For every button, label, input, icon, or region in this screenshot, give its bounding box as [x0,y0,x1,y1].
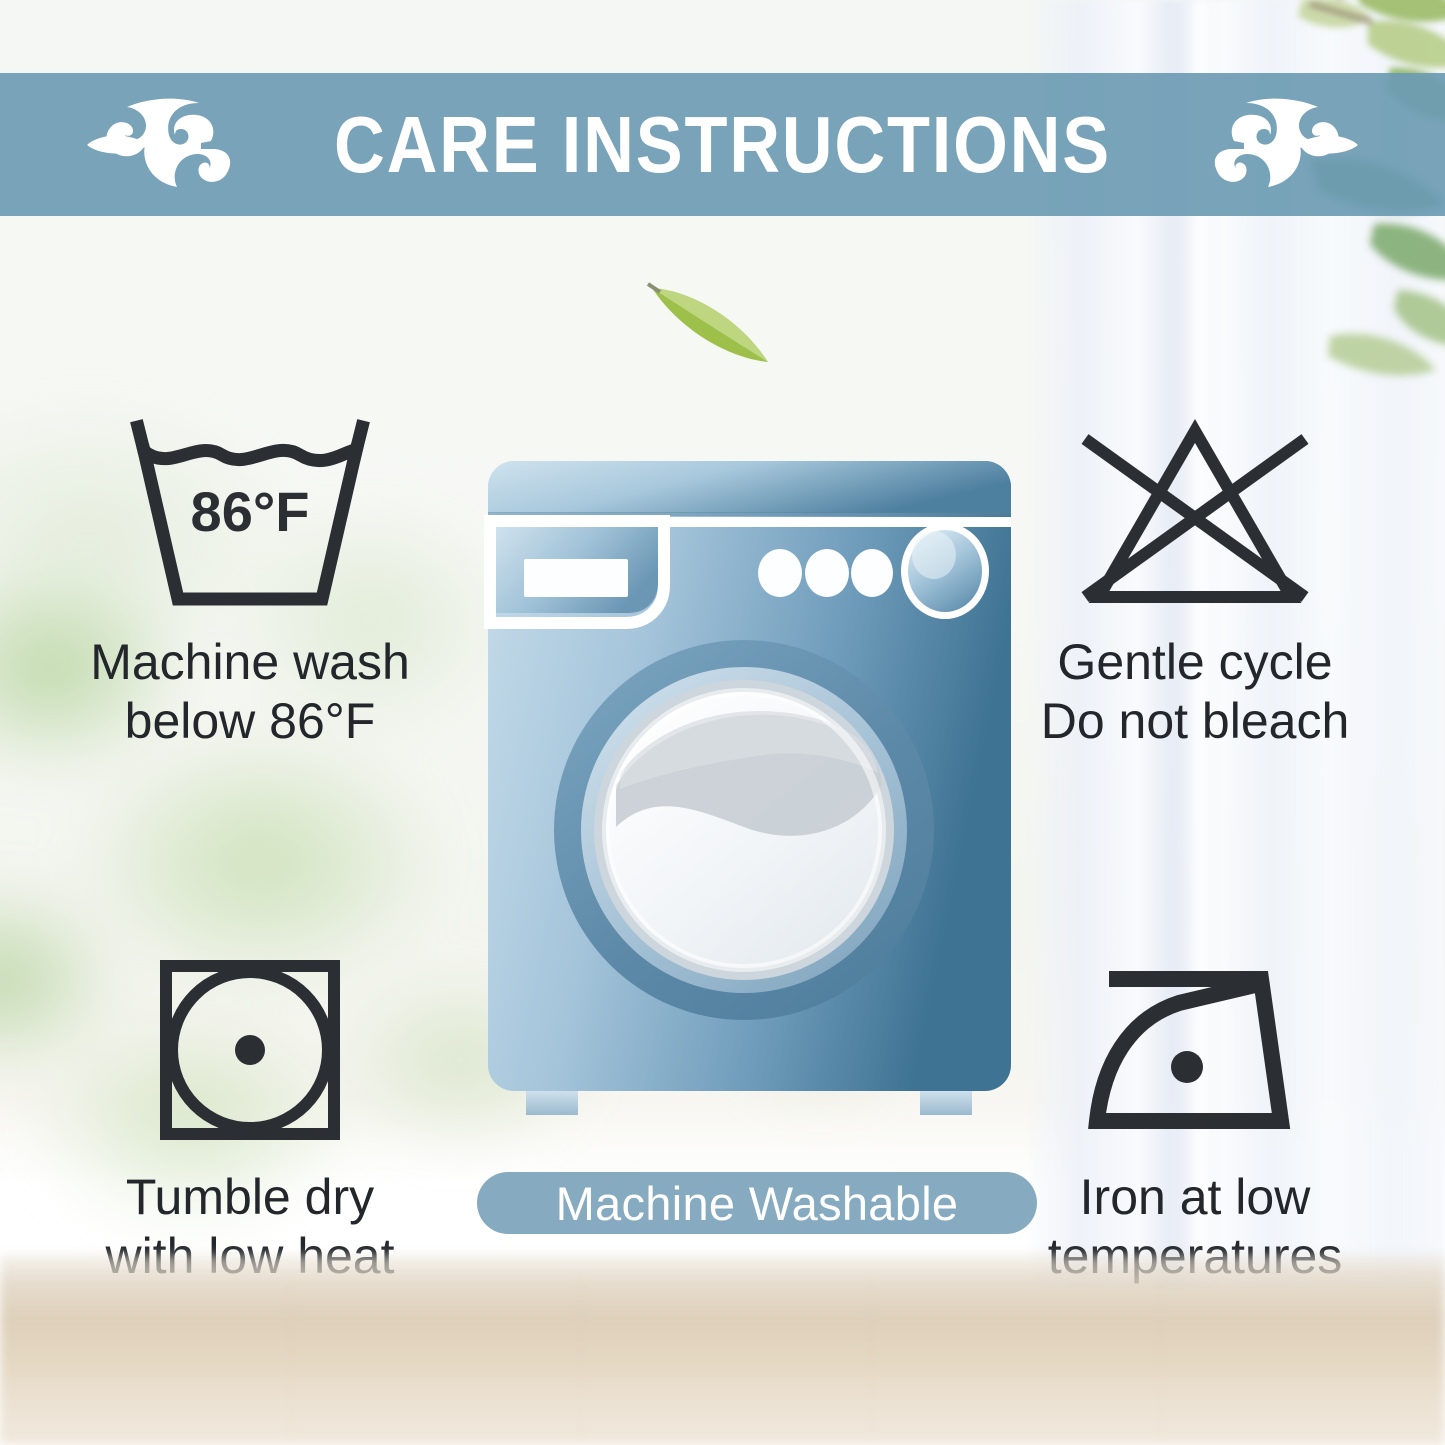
badge-label: Machine Washable [556,1180,959,1227]
symbol-tile-do-not-bleach: Gentle cycle Do not bleach [985,415,1405,751]
symbol-label-do-not-bleach: Gentle cycle Do not bleach [1041,633,1350,751]
banner: CARE INSTRUCTIONS [0,73,1445,216]
fleur-de-lis-right-icon [1208,97,1358,193]
do-not-bleach-triangle-icon [1069,417,1321,613]
tumble-dry-icon-wrap [152,950,348,1150]
iron-icon-wrap [1069,950,1321,1150]
wash-tub-icon-wrap: 86°F [126,415,374,615]
wash-tub-icon: 86°F [126,417,374,613]
symbol-tile-machine-wash: 86°F Machine wash below 86°F [40,415,460,751]
washing-machine-illustration [482,455,1017,1115]
fleur-de-lis-left-icon [87,97,237,193]
tumble-dry-icon [152,952,348,1148]
symbol-label-machine-wash: Machine wash below 86°F [90,633,410,751]
iron-icon [1069,957,1321,1143]
background-table-grain [0,1275,1445,1445]
wash-temperature-value: 86°F [191,480,310,543]
page-title: CARE INSTRUCTIONS [334,105,1111,185]
symbol-tile-iron-low: Iron at low temperatures [985,950,1405,1286]
do-not-bleach-icon-wrap [1069,415,1321,615]
floating-leaf-icon [640,272,780,372]
symbol-tile-tumble-dry: Tumble dry with low heat [40,950,460,1286]
care-instructions-infographic: CARE INSTRUCTIONS 86°F Machine wash belo… [0,0,1445,1445]
machine-washable-badge: Machine Washable [477,1172,1037,1234]
